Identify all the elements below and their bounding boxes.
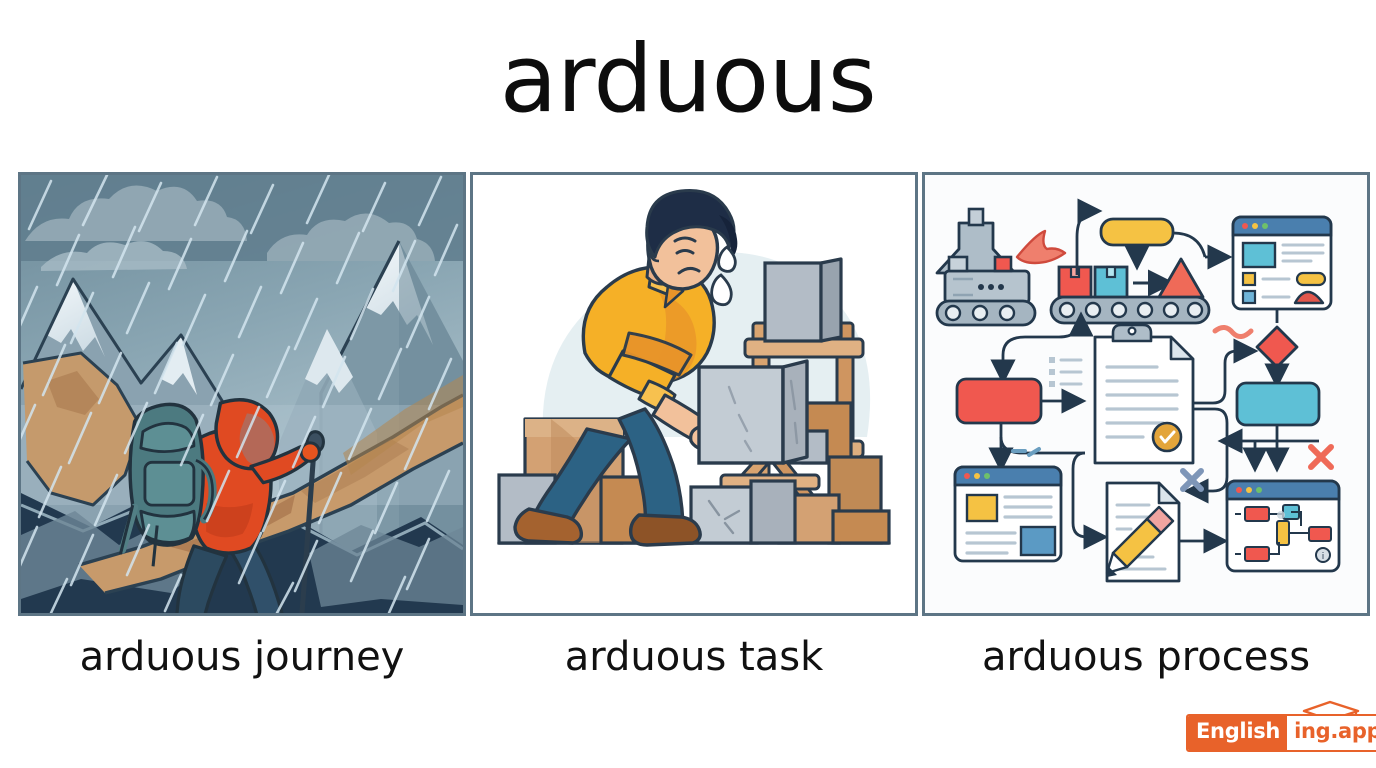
- process-box-red: [957, 379, 1041, 423]
- titlebar-dots: [1242, 223, 1268, 229]
- check-badge-icon: [1153, 423, 1181, 451]
- illustration-worker-lifting-block: [473, 175, 915, 613]
- stone-block-top: [765, 259, 841, 341]
- illustration-hiker-rainstorm: [21, 175, 463, 613]
- page-title: arduous: [0, 28, 1376, 132]
- caption-arduous-journey: arduous journey: [18, 633, 466, 681]
- list-bullets: [1049, 357, 1081, 387]
- logo-text-english: English: [1188, 716, 1287, 750]
- boot-front: [631, 515, 700, 545]
- panel-arduous-journey: [18, 172, 466, 616]
- browser-window-bottom-left: [955, 467, 1061, 561]
- process-box-yellow: [1101, 219, 1173, 245]
- flashcard-canvas: arduous: [0, 0, 1376, 768]
- caption-arduous-task: arduous task: [470, 633, 918, 681]
- backpack-top-pocket: [141, 423, 194, 451]
- process-box-teal: [1237, 383, 1319, 425]
- stone-blocks-bottom: [691, 481, 795, 543]
- document-with-pencil: [1107, 483, 1179, 581]
- illustration-workflow-diagram: i: [925, 175, 1367, 613]
- titlebar-dots: [964, 473, 990, 479]
- panel-arduous-task: [470, 172, 918, 616]
- backpack-front-pocket: [145, 462, 194, 505]
- browser-window-top-right: [1233, 217, 1331, 309]
- logo-text-ingapp: ing.app: [1287, 716, 1376, 750]
- machine-red-part: [995, 257, 1011, 271]
- flowchart-window-bottom-right: i: [1227, 481, 1339, 571]
- brand-logo[interactable]: English ing.app: [1186, 714, 1376, 752]
- svg-text:i: i: [1322, 552, 1325, 562]
- titlebar-dots: [1236, 487, 1262, 493]
- stone-block-lifted: [699, 361, 807, 463]
- panel-arduous-process: i: [922, 172, 1370, 616]
- caption-arduous-process: arduous process: [922, 633, 1370, 681]
- clipboard-document: [1095, 325, 1193, 463]
